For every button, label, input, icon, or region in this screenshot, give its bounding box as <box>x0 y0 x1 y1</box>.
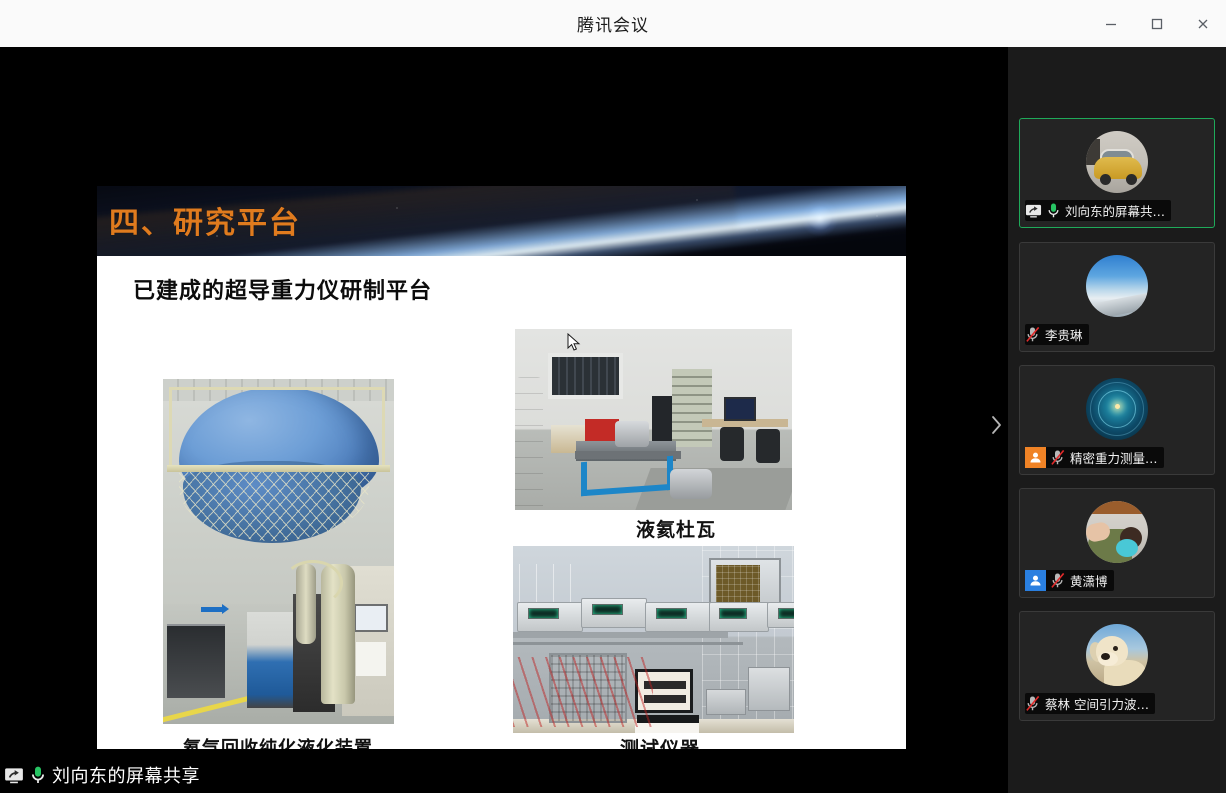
avatar <box>1086 624 1148 686</box>
participant-label: 蔡林 空间引力波… <box>1025 693 1155 714</box>
share-status-label: 刘向东的屏幕共享 <box>52 762 200 788</box>
participant-label: 李贵琳 <box>1025 324 1089 345</box>
participant-tile-2[interactable]: 精密重力测量… <box>1019 365 1215 475</box>
mic-muted-icon <box>1025 326 1041 343</box>
participant-name: 黄潇博 <box>1070 571 1108 590</box>
avatar <box>1086 501 1148 563</box>
minimize-icon <box>1104 17 1118 31</box>
host-badge-icon <box>1025 447 1046 468</box>
photo-liquid-helium-dewar-room <box>515 329 792 510</box>
avatar <box>1086 255 1148 317</box>
slide-subtitle: 已建成的超导重力仪研制平台 <box>133 273 432 305</box>
maximize-button[interactable] <box>1134 0 1180 47</box>
mic-on-icon <box>29 765 47 785</box>
next-panel-arrow[interactable] <box>985 407 1007 443</box>
mic-muted-icon <box>1050 449 1066 466</box>
avatar <box>1086 378 1148 440</box>
cohost-badge-icon <box>1025 570 1046 591</box>
participant-label: 黄潇博 <box>1025 570 1114 591</box>
mic-muted-icon <box>1050 572 1066 589</box>
close-button[interactable] <box>1180 0 1226 47</box>
presentation-slide: 四、研究平台 已建成的超导重力仪研制平台 <box>97 186 906 749</box>
caption-helium-device: 氦气回收纯化液化装置 <box>183 734 373 749</box>
participant-tile-0[interactable]: 刘向东的屏幕共… <box>1019 118 1215 228</box>
participant-tile-3[interactable]: 黄潇博 <box>1019 488 1215 598</box>
photo-helium-recovery-plant <box>163 379 394 724</box>
mic-on-icon <box>1046 202 1061 219</box>
slide-header-banner: 四、研究平台 <box>97 186 906 256</box>
slide-title: 四、研究平台 <box>109 198 301 242</box>
participant-name: 蔡林 空间引力波… <box>1045 694 1149 713</box>
participant-name: 李贵琳 <box>1045 325 1083 344</box>
photo-test-instruments <box>513 546 794 733</box>
window-title: 腾讯会议 <box>577 11 649 36</box>
screen-share-status-bar: 刘向东的屏幕共享 <box>0 757 1008 793</box>
avatar <box>1086 131 1148 193</box>
screen-share-icon <box>4 765 24 785</box>
close-icon <box>1196 17 1210 31</box>
caption-test-instrument: 测试仪器 <box>620 734 700 749</box>
participant-name: 刘向东的屏幕共… <box>1065 201 1165 220</box>
participant-label: 刘向东的屏幕共… <box>1025 200 1171 221</box>
participant-sidebar: 刘向东的屏幕共… 李贵琳 <box>1008 47 1226 793</box>
window-titlebar: 腾讯会议 <box>0 0 1226 47</box>
window-controls <box>1088 0 1226 47</box>
maximize-icon <box>1150 17 1164 31</box>
minimize-button[interactable] <box>1088 0 1134 47</box>
participant-name: 精密重力测量… <box>1070 448 1158 467</box>
shared-screen-stage: 四、研究平台 已建成的超导重力仪研制平台 <box>0 47 1008 793</box>
caption-dewar: 液氦杜瓦 <box>636 515 716 542</box>
participant-label: 精密重力测量… <box>1025 447 1164 468</box>
chevron-right-icon <box>989 414 1003 436</box>
screen-share-icon <box>1025 202 1042 219</box>
participant-tile-4[interactable]: 蔡林 空间引力波… <box>1019 611 1215 721</box>
participant-tile-1[interactable]: 李贵琳 <box>1019 242 1215 352</box>
slide-body: 已建成的超导重力仪研制平台 <box>97 256 906 749</box>
mic-muted-icon <box>1025 695 1041 712</box>
